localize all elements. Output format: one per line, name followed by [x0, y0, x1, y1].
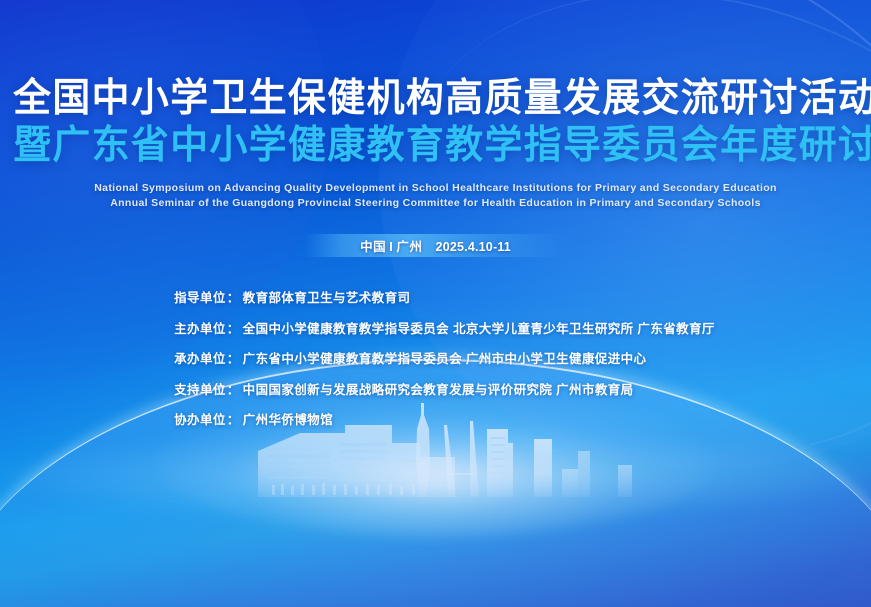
poster-title-main: 全国中小学卫生保健机构高质量发展交流研讨活动: [13, 78, 858, 119]
organizer-row-host: 主办单位 ： 全国中小学健康教育教学指导委员会 北京大学儿童青少年卫生研究所 广…: [174, 318, 715, 337]
event-date: 2025.4.10-11: [436, 240, 511, 254]
organizer-colon: ：: [226, 287, 243, 306]
poster-content: 全国中小学卫生保健机构高质量发展交流研讨活动 暨广东省中小学健康教育教学指导委员…: [0, 0, 871, 607]
organizer-row-supporter: 支持单位 ： 中国国家创新与发展战略研究会教育发展与评价研究院 广州市教育局: [174, 379, 715, 398]
meta-separator: I: [386, 240, 396, 254]
organizer-colon: ：: [226, 348, 243, 367]
organizer-row-coorganizer: 协办单位 ： 广州华侨博物馆: [174, 409, 715, 428]
organizer-colon: ：: [226, 318, 243, 337]
organizer-row-guidance: 指导单位 ： 教育部体育卫生与艺术教育司: [174, 287, 715, 306]
location-date-text: 中国I广州2025.4.10-11: [360, 236, 511, 255]
organizer-value: 中国国家创新与发展战略研究会教育发展与评价研究院 广州市教育局: [243, 379, 634, 398]
organizer-label: 主办单位: [174, 318, 226, 337]
organizer-label: 支持单位: [174, 379, 226, 398]
organizer-list: 指导单位 ： 教育部体育卫生与艺术教育司 主办单位 ： 全国中小学健康教育教学指…: [174, 287, 715, 428]
poster-subtitle-english: National Symposium on Advancing Quality …: [0, 181, 871, 211]
conference-poster: 全国中小学卫生保健机构高质量发展交流研讨活动 暨广东省中小学健康教育教学指导委员…: [0, 0, 871, 607]
organizer-colon: ：: [226, 409, 243, 428]
subtitle-english-line-2: Annual Seminar of the Guangdong Provinci…: [0, 196, 871, 211]
city-label: 广州: [396, 240, 422, 254]
organizer-value: 全国中小学健康教育教学指导委员会 北京大学儿童青少年卫生研究所 广东省教育厅: [243, 318, 715, 337]
organizer-label: 承办单位: [174, 348, 226, 367]
organizer-row-organizer: 承办单位 ： 广东省中小学健康教育教学指导委员会 广州市中小学卫生健康促进中心: [174, 348, 715, 367]
organizer-colon: ：: [226, 379, 243, 398]
subtitle-english-line-1: National Symposium on Advancing Quality …: [0, 181, 871, 196]
poster-title-sub: 暨广东省中小学健康教育教学指导委员会年度研讨活动: [13, 125, 858, 166]
organizer-value: 教育部体育卫生与艺术教育司: [243, 287, 411, 306]
organizer-label: 指导单位: [174, 287, 226, 306]
organizer-value: 广东省中小学健康教育教学指导委员会 广州市中小学卫生健康促进中心: [243, 348, 647, 367]
organizer-value: 广州华侨博物馆: [243, 409, 333, 428]
country-label: 中国: [360, 240, 386, 254]
organizer-label: 协办单位: [174, 409, 226, 428]
location-date-banner: 中国I广州2025.4.10-11: [305, 234, 567, 257]
